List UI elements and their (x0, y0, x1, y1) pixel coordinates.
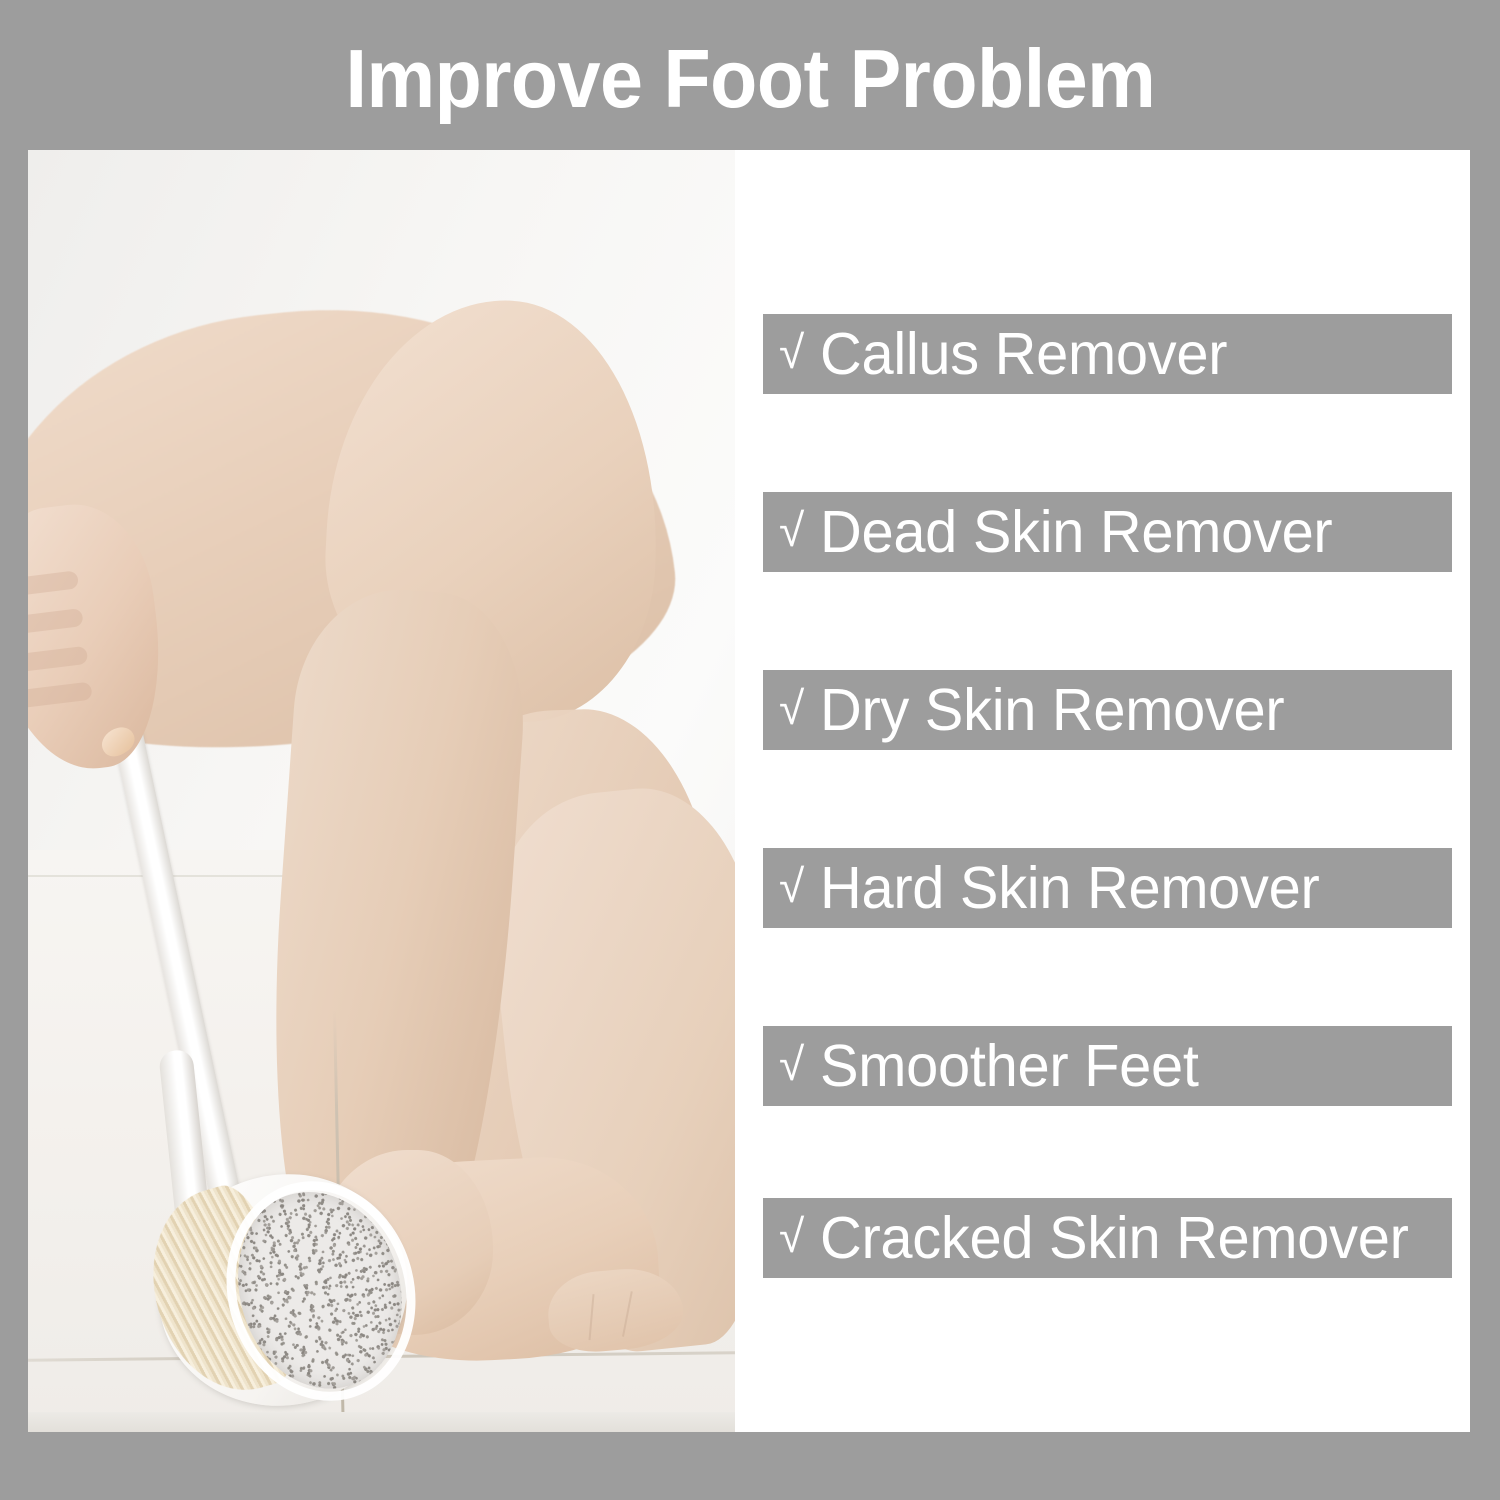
feature-item-smoother-feet: √ Smoother Feet (763, 1026, 1452, 1106)
feature-item-cracked-skin-remover: √ Cracked Skin Remover (763, 1198, 1452, 1278)
feature-item-dead-skin-remover: √ Dead Skin Remover (763, 492, 1452, 572)
photo-baseboard (28, 1412, 735, 1432)
page-title: Improve Foot Problem (345, 37, 1155, 120)
photo-knuckle (28, 646, 88, 674)
header-banner: Improve Foot Problem (0, 0, 1500, 150)
feature-label: Dead Skin Remover (820, 503, 1332, 562)
foot-brush-in-use-photo (28, 150, 735, 1432)
feature-list: √ Callus Remover √ Dead Skin Remover √ D… (763, 150, 1470, 1432)
feature-label: Cracked Skin Remover (820, 1209, 1409, 1268)
feature-label: Dry Skin Remover (820, 681, 1284, 740)
feature-label: Callus Remover (820, 325, 1227, 384)
feature-label: Hard Skin Remover (820, 859, 1319, 918)
feature-item-callus-remover: √ Callus Remover (763, 314, 1452, 394)
check-icon: √ (779, 685, 804, 731)
feature-label: Smoother Feet (820, 1037, 1199, 1096)
check-icon: √ (779, 1041, 804, 1087)
content-panel: √ Callus Remover √ Dead Skin Remover √ D… (28, 150, 1470, 1432)
feature-item-dry-skin-remover: √ Dry Skin Remover (763, 670, 1452, 750)
check-icon: √ (779, 329, 804, 375)
photo-knuckle (28, 608, 84, 636)
photo-knuckle (28, 682, 93, 710)
check-icon: √ (779, 1213, 804, 1259)
photo-knuckle (28, 570, 79, 598)
check-icon: √ (779, 507, 804, 553)
check-icon: √ (779, 863, 804, 909)
feature-item-hard-skin-remover: √ Hard Skin Remover (763, 848, 1452, 928)
